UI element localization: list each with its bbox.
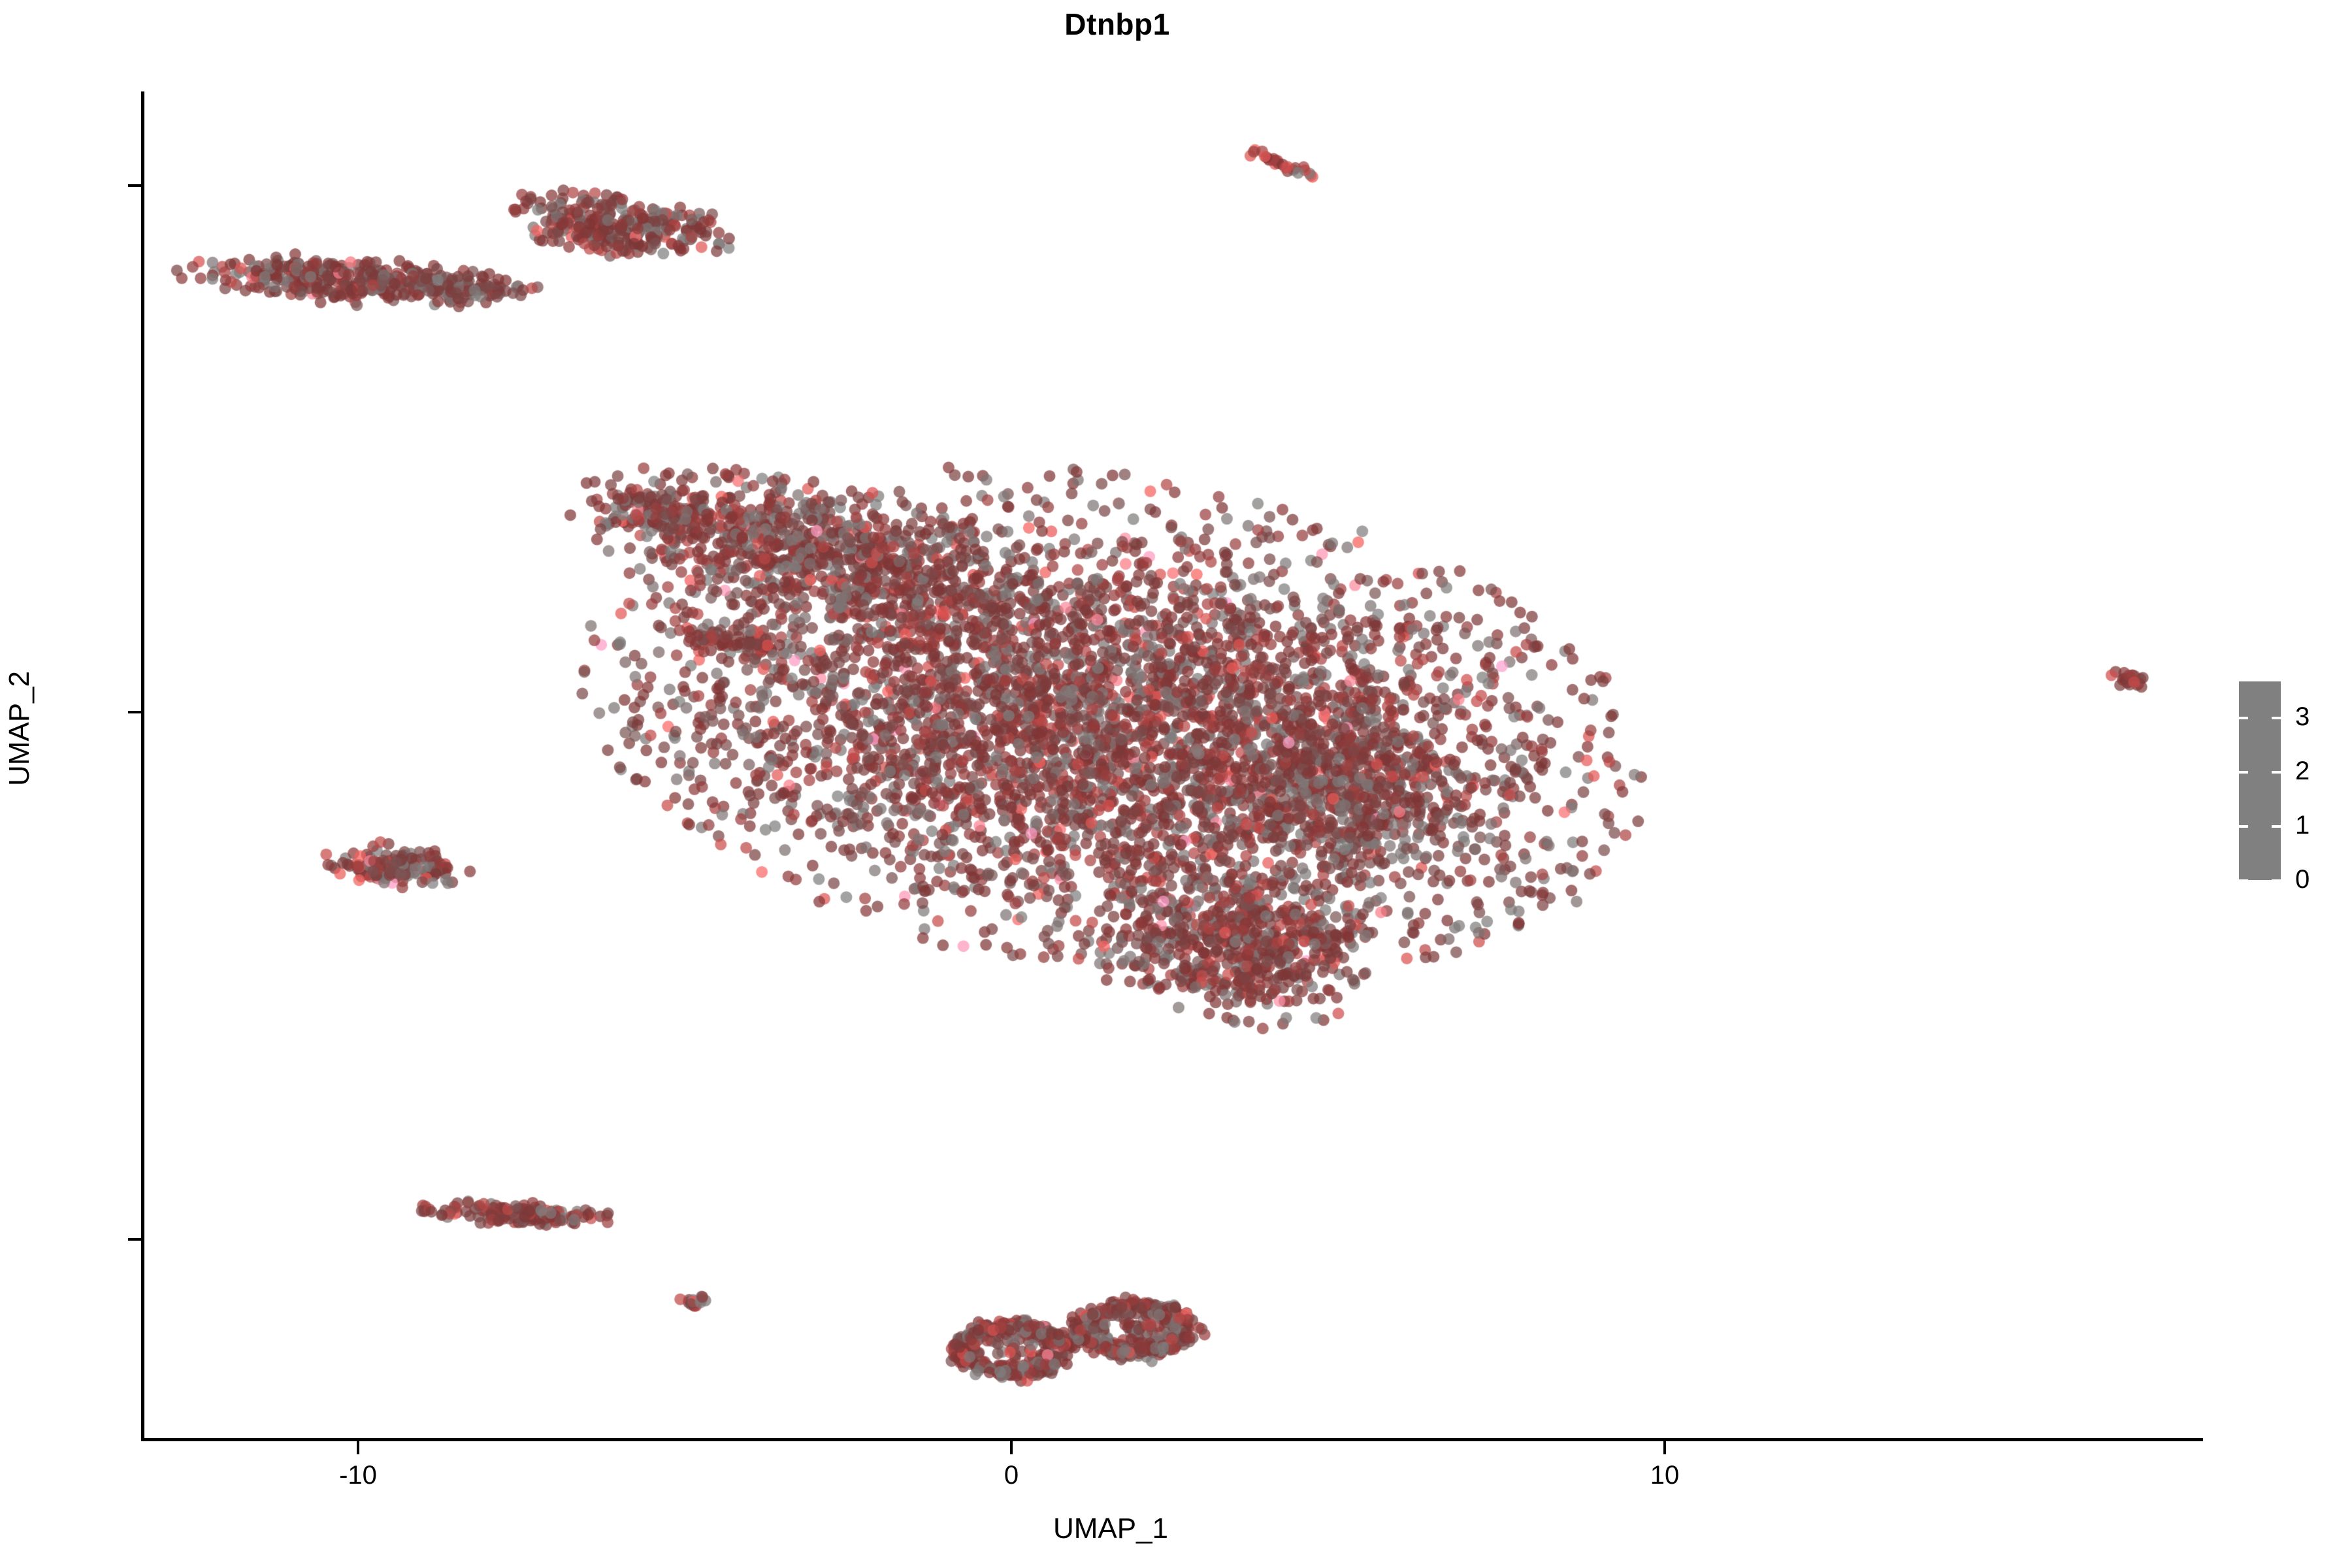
x-tick-mark-0: [1010, 1441, 1013, 1454]
x-tick-mark-10: [1663, 1441, 1666, 1454]
colorbar-label-3: 3: [2295, 704, 2352, 730]
x-tick-label-0: 0: [946, 1462, 1077, 1488]
colorbar-tick-0: [2239, 879, 2281, 882]
y-tick-mark-10: [128, 184, 141, 187]
y-tick-mark--10: [128, 1238, 141, 1241]
x-tick-mark--10: [357, 1441, 359, 1454]
y-axis-title: UMAP_2: [3, 598, 36, 859]
page-title: Dtnbp1: [0, 7, 2234, 42]
y-tick-mark-0: [128, 711, 141, 713]
color-legend: 3 2 1 0: [2239, 681, 2337, 884]
x-tick-label-10: 10: [1599, 1462, 1730, 1488]
colorbar-tick-2: [2239, 771, 2281, 774]
colorbar-gradient: [2239, 681, 2281, 880]
x-axis-line: [141, 1438, 2203, 1441]
colorbar-tick-1: [2239, 825, 2281, 828]
umap-feature-plot: Dtnbp1 10 0 -10 -10 0 10 UMAP_1 UMAP_2 3…: [0, 0, 2352, 1568]
colorbar-label-2: 2: [2295, 758, 2352, 784]
y-axis-line: [141, 91, 144, 1441]
scatter-points-canvas: [144, 91, 2202, 1439]
colorbar-label-0: 0: [2295, 866, 2352, 892]
plot-panel: [144, 91, 2202, 1439]
colorbar-tick-3: [2239, 717, 2281, 719]
x-axis-title: UMAP_1: [0, 1512, 2221, 1545]
colorbar-label-1: 1: [2295, 812, 2352, 838]
x-tick-label--10: -10: [293, 1462, 423, 1488]
